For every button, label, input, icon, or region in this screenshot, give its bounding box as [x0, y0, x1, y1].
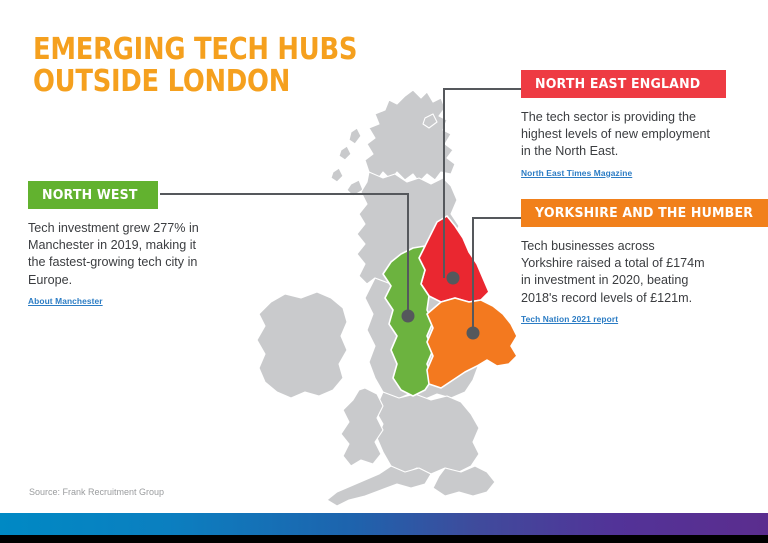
callout-north-west-link[interactable]: About Manchester [28, 296, 103, 306]
badge-north-east[interactable]: NORTH EAST ENGLAND [521, 70, 726, 98]
callout-north-west-body: Tech investment grew 277% in Manchester … [28, 220, 243, 289]
callout-yorkshire: YORKSHIRE AND THE HUMBER Tech businesses… [521, 199, 753, 327]
map-dot-north-east[interactable] [447, 272, 460, 285]
callout-yorkshire-body: Tech businesses across Yorkshire raised … [521, 238, 753, 307]
badge-north-west-label: NORTH WEST [42, 188, 138, 202]
callout-north-east-link[interactable]: North East Times Magazine [521, 168, 632, 178]
callout-yorkshire-link[interactable]: Tech Nation 2021 report [521, 314, 618, 324]
infographic-canvas: EMERGING TECH HUBS OUTSIDE LONDON [0, 0, 768, 543]
callout-north-east-body: The tech sector is providing the highest… [521, 109, 753, 160]
badge-yorkshire[interactable]: YORKSHIRE AND THE HUMBER [521, 199, 768, 227]
badge-yorkshire-label: YORKSHIRE AND THE HUMBER [535, 206, 753, 220]
footer-source: Source: Frank Recruitment Group [29, 487, 164, 497]
callout-north-west: NORTH WEST Tech investment grew 277% in … [28, 181, 243, 309]
footer-black-strip [0, 535, 768, 543]
map-dot-north-west[interactable] [402, 310, 415, 323]
badge-north-east-label: NORTH EAST ENGLAND [535, 77, 700, 91]
map-dot-yorkshire[interactable] [467, 327, 480, 340]
badge-north-west[interactable]: NORTH WEST [28, 181, 158, 209]
footer-gradient-bar [0, 513, 768, 535]
callout-north-east: NORTH EAST ENGLAND The tech sector is pr… [521, 70, 753, 181]
